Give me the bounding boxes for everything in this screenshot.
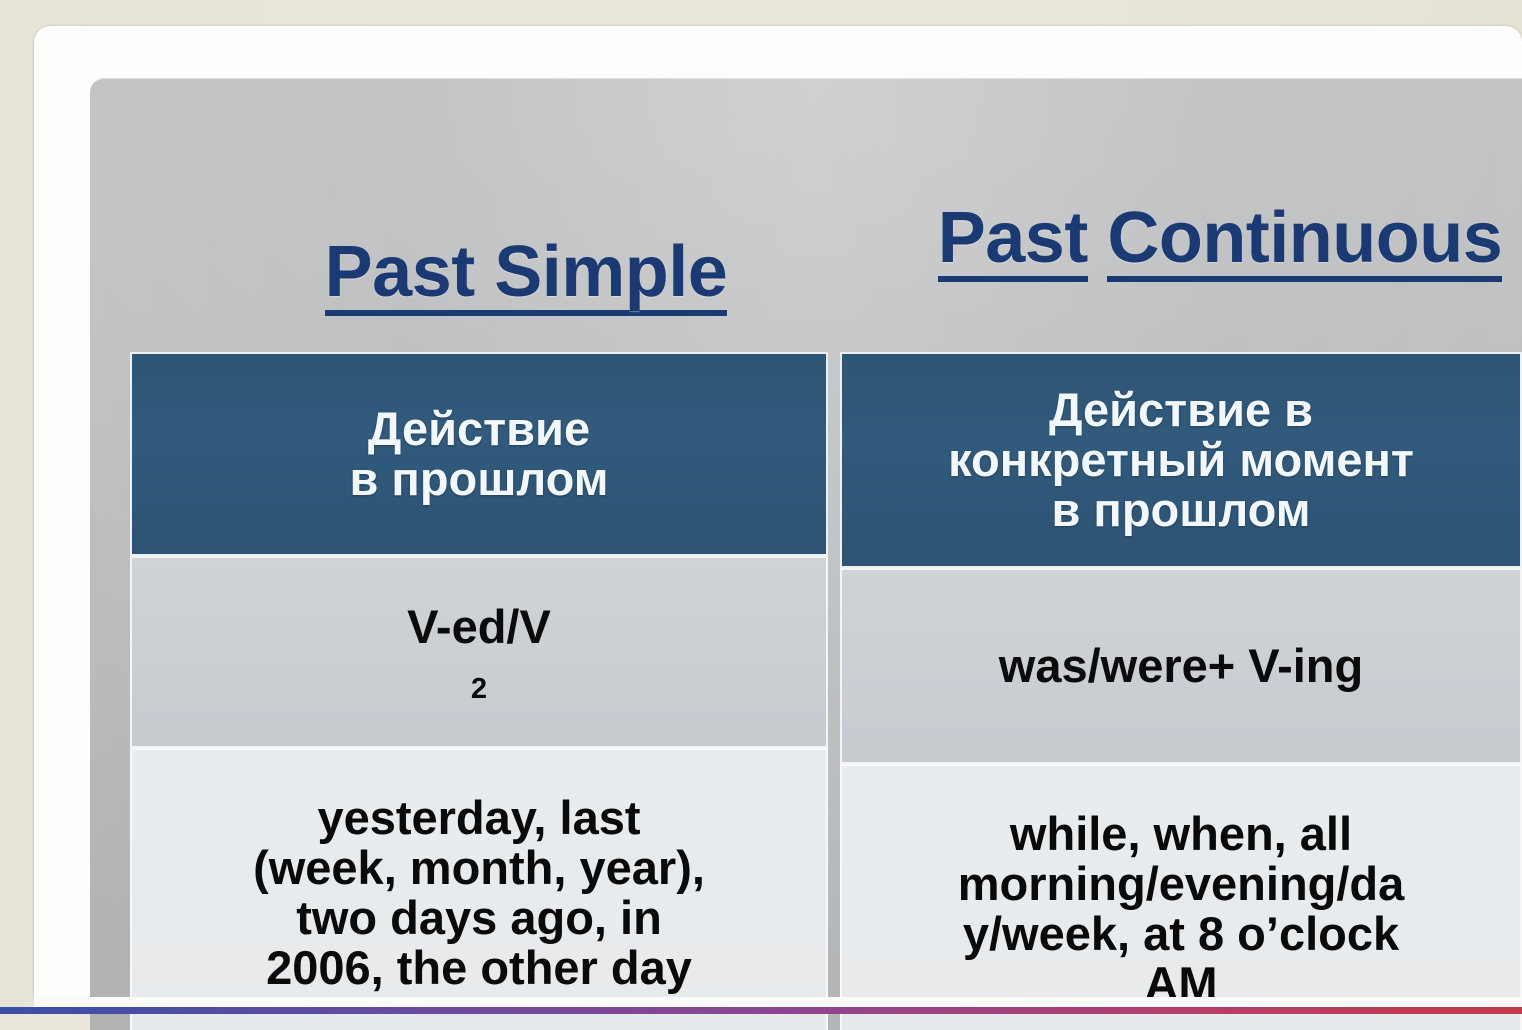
column-title-past-continuous-line-2: Continuous xyxy=(1107,202,1502,282)
slide-frame: Past Simple Past Continuous Действие в п… xyxy=(34,26,1522,1006)
cell-line: y/week, at 8 o’clock xyxy=(850,909,1512,959)
column-title-past-continuous: Past Continuous xyxy=(890,196,1522,282)
cell-line: morning/evening/da xyxy=(850,859,1512,909)
page-background: Past Simple Past Continuous Действие в п… xyxy=(0,0,1522,1014)
cell-line: Действие в xyxy=(850,385,1512,435)
cell-line: в прошлом xyxy=(850,485,1512,535)
cell-line: yesterday, last xyxy=(140,793,818,843)
table-cell-past-continuous-form: was/were+ V-ing xyxy=(840,568,1522,764)
table-cell-past-continuous-usage: Действие в конкретный момент в прошлом xyxy=(840,352,1522,568)
cell-line: V-ed/V2 xyxy=(140,602,818,702)
form-subscript: 2 xyxy=(471,673,487,705)
column-title-past-simple-line-1: Past Simple xyxy=(325,236,728,316)
cell-line: (week, month, year), xyxy=(140,843,818,893)
table-cell-past-simple-form: V-ed/V2 xyxy=(130,556,828,748)
cell-line: конкретный момент xyxy=(850,435,1512,485)
column-title-past-simple: Past Simple xyxy=(186,236,866,316)
bottom-accent-bar xyxy=(0,1007,1522,1014)
cell-line: was/were+ V-ing xyxy=(850,641,1512,691)
cell-line: 2006, the other day xyxy=(140,943,818,993)
table-cell-past-simple-usage: Действие в прошлом xyxy=(130,352,828,556)
cell-line: в прошлом xyxy=(140,454,818,504)
cell-line: while, when, all xyxy=(850,809,1512,859)
cell-line: Действие xyxy=(140,404,818,454)
table-cell-past-simple-markers: yesterday, last (week, month, year), two… xyxy=(130,748,828,1030)
column-title-past-continuous-line-1: Past xyxy=(938,202,1088,282)
form-base: V-ed/V xyxy=(140,602,818,652)
bottom-left-margin xyxy=(0,997,34,1007)
slide-surface: Past Simple Past Continuous Действие в п… xyxy=(90,78,1522,1030)
cell-line: two days ago, in xyxy=(140,893,818,943)
table-cell-past-continuous-markers: while, when, all morning/evening/da y/we… xyxy=(840,764,1522,1030)
bottom-frame-edge xyxy=(0,997,1522,1007)
